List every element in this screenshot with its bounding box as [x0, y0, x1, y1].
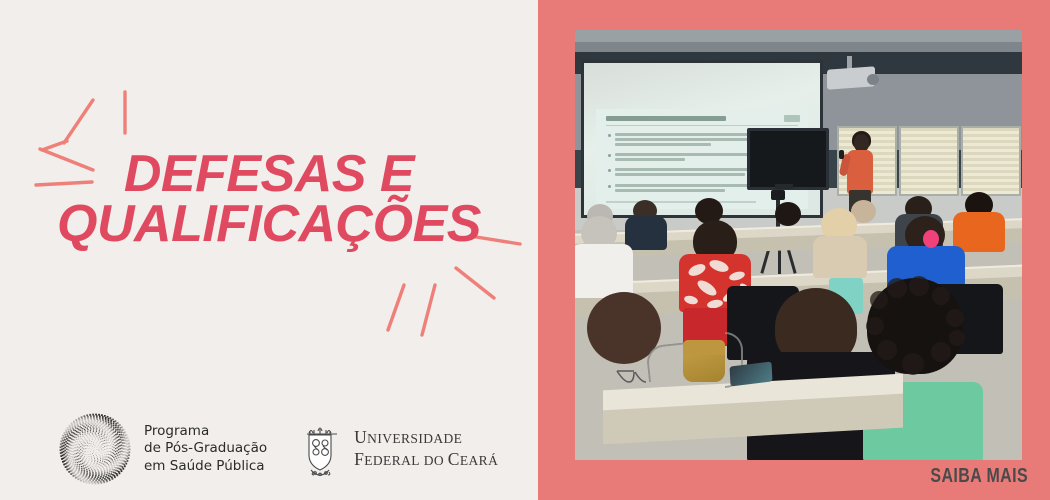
ceiling-strip	[575, 30, 1022, 42]
spark-line-5	[36, 182, 92, 185]
slide-rule	[606, 125, 798, 126]
slide-bullet	[608, 169, 611, 172]
wall-monitor-stand	[775, 184, 793, 189]
wall-monitor	[747, 128, 829, 190]
slide-bullet	[608, 154, 611, 157]
pink-hair-clip	[923, 230, 939, 248]
slide-logo	[784, 115, 800, 122]
spark-line-7	[456, 268, 494, 298]
presenter-torso	[847, 150, 873, 194]
slide-footer	[606, 201, 756, 203]
slide-text-line	[615, 158, 685, 161]
presenter-microphone	[839, 150, 844, 159]
spark-line-8	[422, 285, 435, 335]
spark-line-6	[470, 236, 520, 244]
slide-text-line	[615, 143, 711, 146]
spark-line-9	[388, 285, 404, 330]
blind-3	[963, 128, 1019, 194]
spark-line-4	[40, 149, 93, 170]
camera-tripod-head	[771, 190, 785, 200]
blind-2	[901, 128, 957, 194]
projector-lens	[867, 74, 879, 85]
audience-torso-orange	[953, 212, 1005, 252]
audience-torso	[813, 236, 867, 278]
decorative-spark-lines	[0, 0, 538, 500]
handbag-flap	[683, 340, 725, 355]
spark-line-1	[64, 100, 93, 143]
curly-hair-texture	[861, 272, 973, 388]
event-photo	[575, 30, 1022, 460]
audience-torso	[625, 216, 667, 250]
sunglasses-icon	[615, 366, 661, 386]
slide-text-line	[615, 189, 725, 192]
window-3	[961, 126, 1021, 196]
window-2	[899, 126, 959, 196]
audience-torso-white	[575, 244, 633, 298]
photo-scene	[575, 30, 1022, 460]
spark-line-3	[42, 141, 67, 150]
slide-heading	[606, 116, 726, 121]
saiba-mais-link[interactable]: SAIBA MAIS	[930, 465, 1028, 488]
banner-root: DEFESAS E QUALIFICAÇÕES Programa de Pós-…	[0, 0, 1050, 500]
slide-bullet	[608, 134, 611, 137]
slide-text-line	[615, 173, 745, 176]
audience-head	[775, 202, 801, 226]
slide-bullet	[608, 185, 611, 188]
